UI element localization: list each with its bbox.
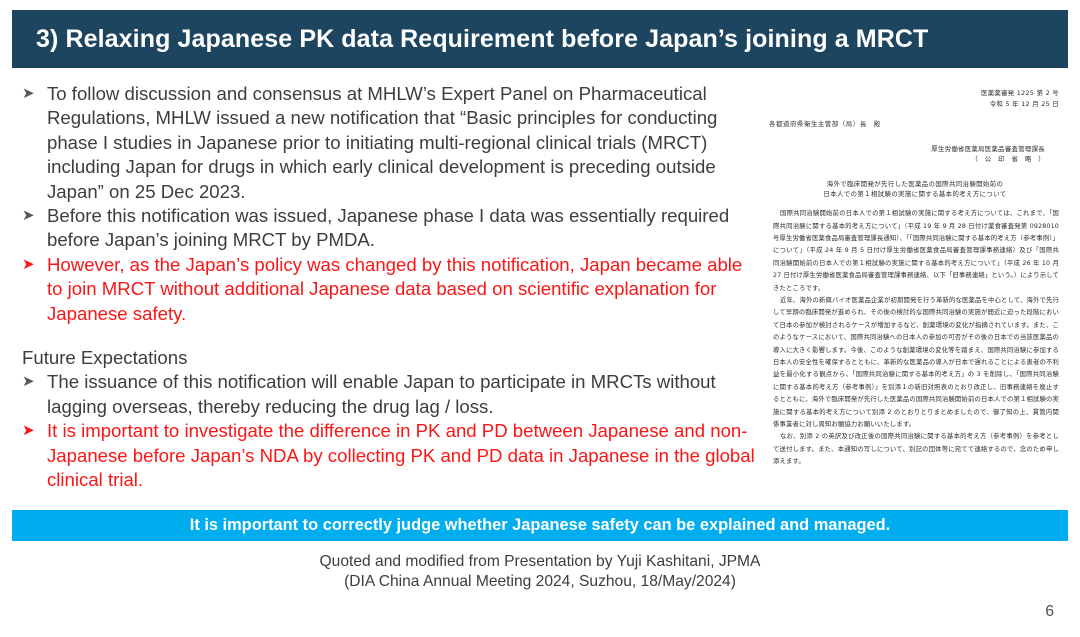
bullet-text: Before this notification was issued, Jap…	[47, 204, 762, 253]
bullet-investigate-difference: ➤ It is important to investigate the dif…	[22, 419, 762, 492]
jp-addressee: 各都道府県衛生主管部（局）長 殿	[765, 119, 1065, 130]
slide-root: 3) Relaxing Japanese PK data Requirement…	[0, 0, 1080, 637]
source-line-2: (DIA China Annual Meeting 2024, Suzhou, …	[0, 572, 1080, 592]
slide-title-banner: 3) Relaxing Japanese PK data Requirement…	[12, 10, 1068, 68]
jp-paragraph: 国際共同治験開始前の日本人での第１相試験の実施に関する考え方については、これまで…	[765, 208, 1065, 295]
slide-body: ➤ To follow discussion and consensus at …	[0, 72, 1080, 504]
spacer	[765, 109, 1065, 119]
bullet-mhlw-notification: ➤ To follow discussion and consensus at …	[22, 82, 762, 204]
japanese-notification-document-image: 医薬薬審発 1225 第 2 号 令和 5 年 12 月 25 日 各都道府県衛…	[765, 84, 1065, 496]
spacer	[765, 165, 1065, 179]
bullet-text: To follow discussion and consensus at MH…	[47, 82, 762, 204]
key-message-callout-bar: It is important to correctly judge wheth…	[12, 510, 1068, 541]
spacer	[22, 326, 762, 346]
callout-text: It is important to correctly judge wheth…	[190, 516, 890, 535]
jp-subject-line-2: 日本人での第１相試験の実施に関する基本的考え方について	[765, 189, 1065, 200]
spacer	[765, 200, 1065, 208]
jp-issuer: 厚生労働省医薬局医薬品審査管理課長	[765, 144, 1065, 155]
bullet-content-column: ➤ To follow discussion and consensus at …	[22, 82, 762, 493]
arrow-bullet-icon: ➤	[22, 253, 47, 277]
arrow-bullet-icon: ➤	[22, 204, 47, 228]
jp-paragraph: 近年、海外の新興バイオ医薬品企業が初期開発を行う革新的な医薬品を中心として、海外…	[765, 295, 1065, 431]
page-title: 3) Relaxing Japanese PK data Requirement…	[36, 25, 928, 54]
jp-paragraph: なお、別添 2 の英訳及び改正後の国際共同治験に関する基本的考え方（参考事例）を…	[765, 431, 1065, 468]
arrow-bullet-icon: ➤	[22, 82, 47, 106]
bullet-issuance-enable: ➤ The issuance of this notification will…	[22, 370, 762, 419]
bullet-text: The issuance of this notification will e…	[47, 370, 762, 419]
page-number: 6	[1045, 603, 1054, 621]
section-heading-future-expectations: Future Expectations	[22, 346, 762, 370]
jp-doc-number: 医薬薬審発 1225 第 2 号	[765, 88, 1065, 99]
jp-seal-note: （ 公 印 省 略 ）	[765, 154, 1065, 165]
bullet-before-notification: ➤ Before this notification was issued, J…	[22, 204, 762, 253]
bullet-text-highlight: It is important to investigate the diffe…	[47, 419, 762, 492]
source-line-1: Quoted and modified from Presentation by…	[0, 552, 1080, 572]
source-attribution: Quoted and modified from Presentation by…	[0, 552, 1080, 592]
jp-subject-line-1: 海外で臨床開発が先行した医薬品の国際共同治験開始前の	[765, 179, 1065, 190]
spacer	[765, 130, 1065, 144]
arrow-bullet-icon: ➤	[22, 370, 47, 394]
arrow-bullet-icon: ➤	[22, 419, 47, 443]
jp-doc-date: 令和 5 年 12 月 25 日	[765, 99, 1065, 110]
bullet-policy-changed: ➤ However, as the Japan’s policy was cha…	[22, 253, 762, 326]
bullet-text-highlight: However, as the Japan’s policy was chang…	[47, 253, 762, 326]
